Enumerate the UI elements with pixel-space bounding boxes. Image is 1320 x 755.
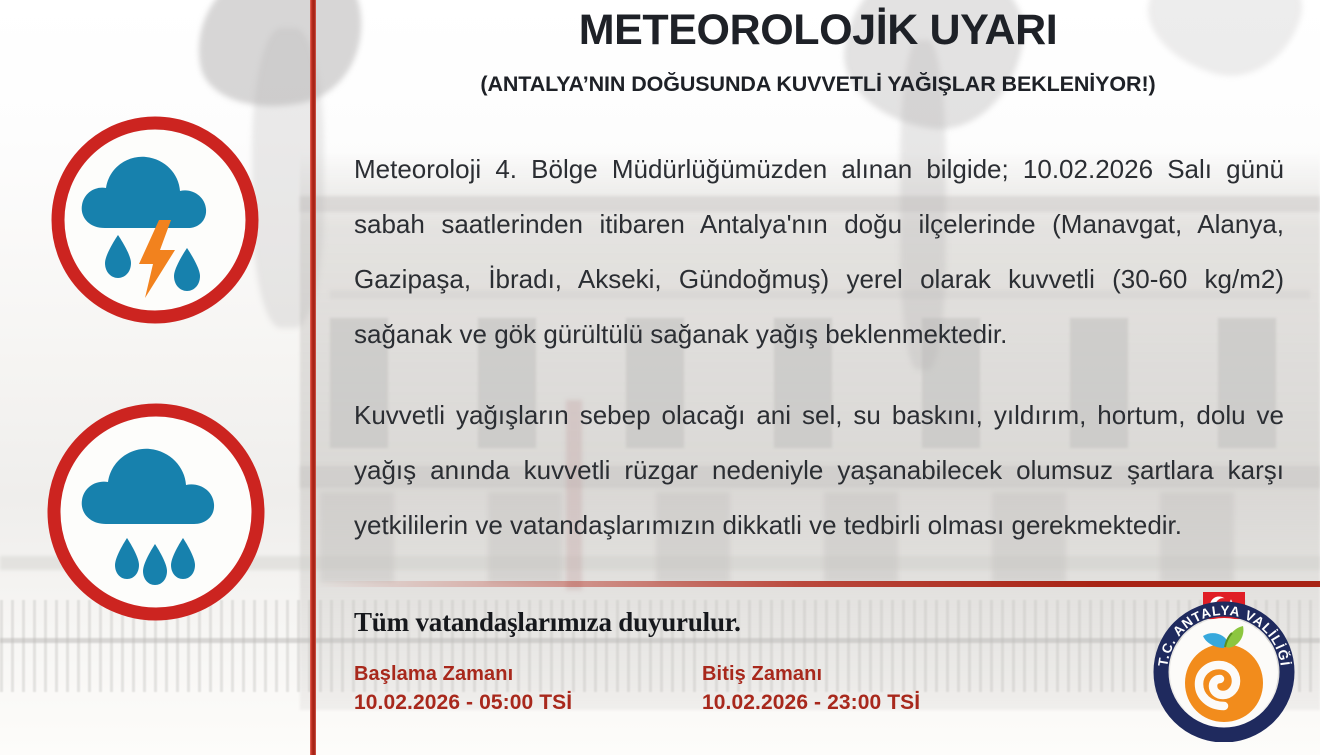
antalya-governorship-emblem: T.C. ANTALYA VALİLİĞİ (1147, 588, 1301, 742)
end-time-block: Bitiş Zamanı 10.02.2026 - 23:00 TSİ (702, 663, 920, 715)
start-time-block: Başlama Zamanı 10.02.2026 - 05:00 TSİ (354, 663, 572, 715)
page-title: METEOROLOJİK UYARI (316, 6, 1320, 55)
end-time-label: Bitiş Zamanı (702, 663, 920, 686)
announcement-line: Tüm vatandaşlarımıza duyurulur. (354, 607, 741, 638)
warning-icon-column (0, 0, 310, 755)
page-subtitle: (ANTALYA’NIN DOĞUSUNDA KUVVETLİ YAĞIŞLAR… (316, 72, 1320, 97)
start-time-label: Başlama Zamanı (354, 663, 572, 686)
start-time-value: 10.02.2026 - 05:00 TSİ (354, 691, 572, 715)
heavy-rain-icon (42, 398, 270, 626)
thunderstorm-rain-icon (47, 112, 263, 328)
meteorological-warning-poster: METEOROLOJİK UYARI (ANTALYA’NIN DOĞUSUND… (0, 0, 1320, 755)
end-time-value: 10.02.2026 - 23:00 TSİ (702, 691, 920, 715)
warning-paragraph-1: Meteoroloji 4. Bölge Müdürlüğümüzden alı… (354, 142, 1284, 362)
warning-paragraph-2: Kuvvetli yağışların sebep olacağı ani se… (354, 388, 1284, 553)
